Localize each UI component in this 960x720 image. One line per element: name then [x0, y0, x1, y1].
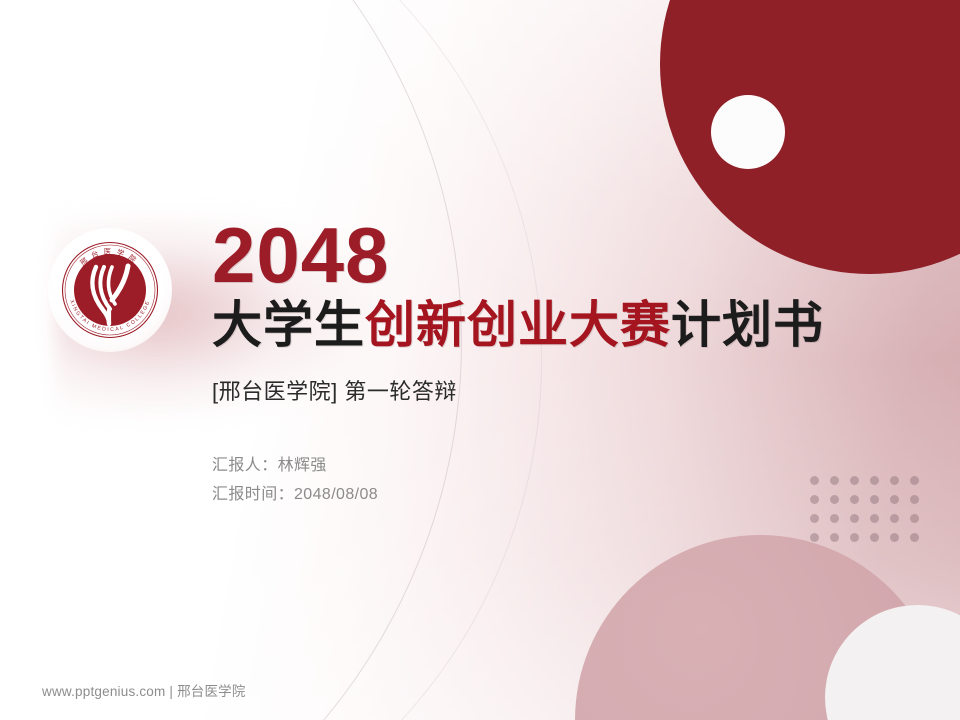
dot [870, 514, 879, 523]
dot [910, 533, 919, 542]
meta-block: 汇报人：林辉强 汇报时间：2048/08/08 [212, 452, 912, 509]
dot [870, 533, 879, 542]
main-title: 大学生创新创业大赛计划书 [212, 298, 912, 352]
footer-credit: www.pptgenius.com | 邢台医学院 [42, 680, 246, 700]
college-logo: 邢台医学院 XINGTAI MEDICAL COLLEGE [48, 228, 172, 352]
title-block: 2048 大学生创新创业大赛计划书 [邢台医学院] 第一轮答辩 汇报人：林辉强 … [212, 218, 912, 509]
title-part-1: 大学生 [212, 297, 365, 353]
decorative-circle-white-small [711, 95, 785, 169]
dot [910, 514, 919, 523]
title-part-3: 计划书 [671, 297, 824, 353]
dot [810, 533, 819, 542]
dot [830, 514, 839, 523]
seal-icon: 邢台医学院 XINGTAI MEDICAL COLLEGE [60, 240, 160, 340]
dot [890, 514, 899, 523]
year-heading: 2048 [212, 218, 912, 292]
presentation-slide: 邢台医学院 XINGTAI MEDICAL COLLEGE 2048 大学生创新… [0, 0, 960, 720]
date-line: 汇报时间：2048/08/08 [212, 481, 912, 509]
title-part-2-accent: 创新创业大赛 [365, 297, 671, 353]
dot [830, 533, 839, 542]
dot [890, 533, 899, 542]
dot [850, 533, 859, 542]
dot [850, 514, 859, 523]
subtitle: [邢台医学院] 第一轮答辩 [212, 374, 912, 406]
dot [810, 514, 819, 523]
presenter-line: 汇报人：林辉强 [212, 452, 912, 480]
